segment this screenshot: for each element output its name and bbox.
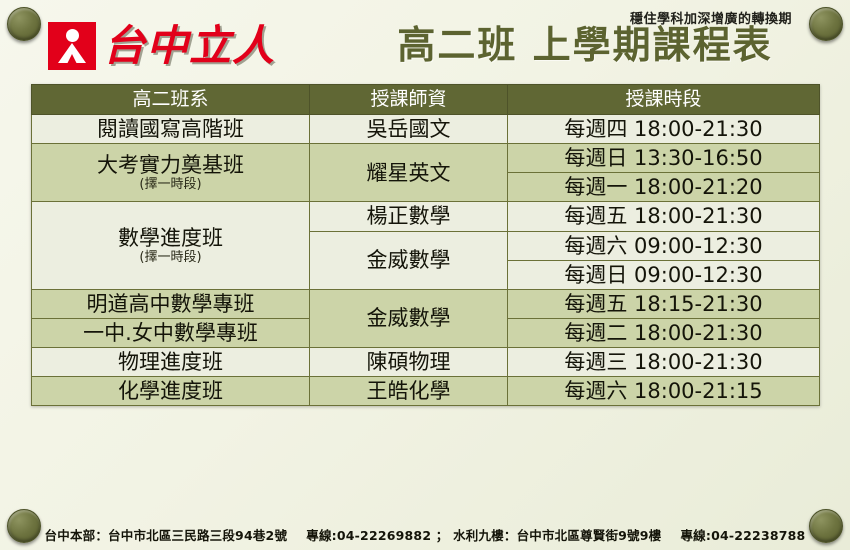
cell-class-name: 一中.女中數學專班 bbox=[32, 318, 310, 347]
cell-time-slot: 每週六 18:00-21:15 bbox=[508, 377, 820, 406]
footer-branch2-phone: 專線:04-22238788 bbox=[680, 528, 805, 543]
table-row: 物理進度班陳碩物理每週三 18:00-21:30 bbox=[32, 348, 820, 377]
class-name-text: 化學進度班 bbox=[118, 379, 223, 403]
table-row: 閱讀國寫高階班吳岳國文每週四 18:00-21:30 bbox=[32, 115, 820, 144]
column-header-time: 授課時段 bbox=[508, 85, 820, 115]
table-row: 大考實力奠基班(擇一時段)耀星英文每週日 13:30-16:50 bbox=[32, 144, 820, 173]
cell-time-slot: 每週日 13:30-16:50 bbox=[508, 144, 820, 173]
cell-time-slot: 每週五 18:15-21:30 bbox=[508, 289, 820, 318]
cell-tutor-name: 金威數學 bbox=[310, 289, 508, 347]
column-header-tutor: 授課師資 bbox=[310, 85, 508, 115]
footer-branch1-phone: 專線:04-22269882 bbox=[306, 528, 431, 543]
cell-time-slot: 每週一 18:00-21:20 bbox=[508, 173, 820, 202]
cell-time-slot: 每週日 09:00-12:30 bbox=[508, 260, 820, 289]
brand-name: 台中立人 bbox=[103, 25, 275, 67]
class-name-text: 數學進度班 bbox=[118, 226, 223, 250]
cell-class-name: 物理進度班 bbox=[32, 348, 310, 377]
cell-time-slot: 每週六 09:00-12:30 bbox=[508, 231, 820, 260]
course-schedule-poster: 台中立人 穩住學科加深增廣的轉換期 高二班 上學期課程表 高二班系 授課師資 授… bbox=[0, 0, 850, 550]
cell-class-name: 數學進度班(擇一時段) bbox=[32, 202, 310, 289]
person-body-shape bbox=[58, 43, 86, 63]
class-name-text: 物理進度班 bbox=[118, 350, 223, 374]
poster-header: 台中立人 穩住學科加深增廣的轉換期 高二班 上學期課程表 bbox=[0, 0, 850, 84]
footer-separator: ； bbox=[436, 528, 449, 543]
cell-tutor-name: 楊正數學 bbox=[310, 202, 508, 231]
cell-tutor-name: 金威數學 bbox=[310, 231, 508, 289]
table-row: 數學進度班(擇一時段)楊正數學每週五 18:00-21:30 bbox=[32, 202, 820, 231]
cell-time-slot: 每週三 18:00-21:30 bbox=[508, 348, 820, 377]
cell-time-slot: 每週四 18:00-21:30 bbox=[508, 115, 820, 144]
schedule-table: 高二班系 授課師資 授課時段 閱讀國寫高階班吳岳國文每週四 18:00-21:3… bbox=[31, 84, 820, 406]
class-name-text: 大考實力奠基班 bbox=[97, 153, 244, 177]
table-row: 明道高中數學專班金威數學每週五 18:15-21:30 bbox=[32, 289, 820, 318]
cell-time-slot: 每週五 18:00-21:30 bbox=[508, 202, 820, 231]
column-header-class: 高二班系 bbox=[32, 85, 310, 115]
cell-tutor-name: 陳碩物理 bbox=[310, 348, 508, 377]
footer-contact-bar: 台中本部：台中市北區三民路三段94巷2號 專線:04-22269882 ； 水利… bbox=[0, 525, 850, 544]
brand-lockup: 台中立人 bbox=[48, 22, 275, 70]
table-header-row: 高二班系 授課師資 授課時段 bbox=[32, 85, 820, 115]
cell-class-name: 大考實力奠基班(擇一時段) bbox=[32, 144, 310, 202]
class-name-note: (擇一時段) bbox=[36, 251, 305, 266]
schedule-table-head: 高二班系 授課師資 授課時段 bbox=[32, 85, 820, 115]
cell-class-name: 閱讀國寫高階班 bbox=[32, 115, 310, 144]
person-head-shape bbox=[66, 29, 79, 42]
cell-time-slot: 每週二 18:00-21:30 bbox=[508, 318, 820, 347]
cell-tutor-name: 吳岳國文 bbox=[310, 115, 508, 144]
cell-class-name: 明道高中數學專班 bbox=[32, 289, 310, 318]
cell-class-name: 化學進度班 bbox=[32, 377, 310, 406]
person-in-red-square-icon bbox=[48, 22, 96, 70]
footer-branch1-address: 台中本部：台中市北區三民路三段94巷2號 bbox=[45, 528, 288, 543]
class-name-note: (擇一時段) bbox=[36, 178, 305, 193]
footer-branch2-address: 水利九樓：台中市北區尊賢街9號9樓 bbox=[453, 528, 661, 543]
cell-tutor-name: 王皓化學 bbox=[310, 377, 508, 406]
schedule-table-body: 閱讀國寫高階班吳岳國文每週四 18:00-21:30大考實力奠基班(擇一時段)耀… bbox=[32, 115, 820, 406]
table-row: 化學進度班王皓化學每週六 18:00-21:15 bbox=[32, 377, 820, 406]
page-title: 高二班 上學期課程表 bbox=[370, 26, 800, 66]
cell-tutor-name: 耀星英文 bbox=[310, 144, 508, 202]
class-name-text: 閱讀國寫高階班 bbox=[97, 117, 244, 141]
